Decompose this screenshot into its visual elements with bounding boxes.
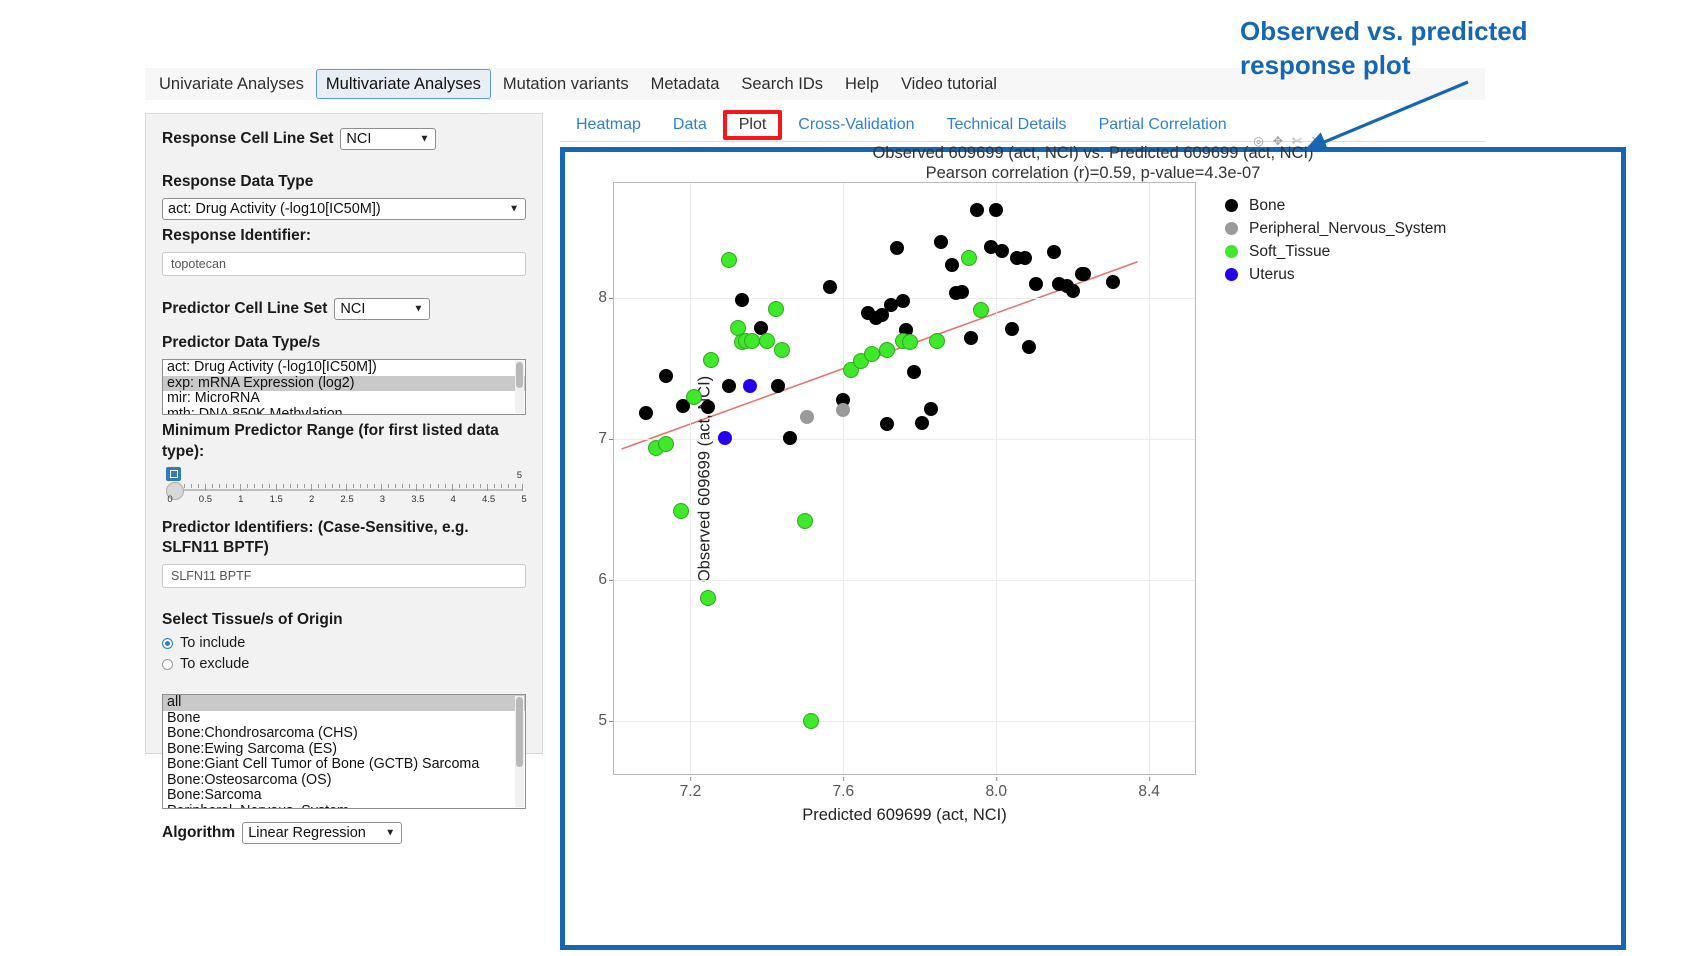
x-axis-tick-label: 8.0 — [985, 783, 1007, 801]
slider-tick — [494, 484, 495, 488]
slider-tick — [311, 484, 312, 491]
scatter-point-soft_tissue — [973, 302, 989, 318]
list-item[interactable]: Bone:Chondrosarcoma (CHS) — [163, 726, 525, 742]
legend-label: Bone — [1249, 197, 1285, 215]
plot-callout-box: ◎ ✥ ✄ ⇲ Observed 609699 (act, NCI) vs. P… — [560, 147, 1626, 950]
slider-tick — [430, 484, 431, 488]
list-item[interactable]: mth: DNA 850K Methylation — [163, 407, 525, 416]
slider-tick — [198, 484, 199, 488]
slider-tick — [240, 484, 241, 491]
gridline — [996, 183, 997, 774]
slider-tick — [381, 484, 382, 491]
response-data-type-select-wrap[interactable]: act: Drug Activity (-log10[IC50M]) ▼ — [162, 198, 526, 220]
slider-tick — [226, 484, 227, 488]
slider-tick-labels: 00.511.522.533.544.55 — [162, 494, 526, 506]
response-cell-line-set-label: Response Cell Line Set — [162, 129, 333, 149]
result-tab-data[interactable]: Data — [657, 112, 723, 138]
y-axis-tick-label: 7 — [598, 430, 607, 448]
scatter-point-soft_tissue — [744, 333, 760, 349]
scatter-point-soft_tissue — [686, 389, 702, 405]
scatter-point-bone — [735, 293, 749, 307]
scatter-point-soft_tissue — [879, 342, 895, 358]
spacer — [162, 505, 526, 518]
list-item[interactable]: Peripheral_Nervous_System — [163, 804, 525, 810]
slider-tick — [283, 484, 284, 488]
scatter-point-bone — [924, 402, 938, 416]
list-item[interactable]: exp: mRNA Expression (log2) — [163, 376, 525, 392]
spacer — [162, 276, 526, 298]
list-item[interactable]: Bone:Osteosarcoma (OS) — [163, 773, 525, 789]
slider-tick — [269, 484, 270, 488]
result-tab-plot[interactable]: Plot — [723, 110, 783, 140]
scatter-point-bone — [701, 400, 715, 414]
gridline — [614, 439, 1195, 440]
result-tab-heatmap[interactable]: Heatmap — [560, 112, 657, 138]
listbox-scrollbar[interactable] — [515, 696, 524, 807]
legend-color-swatch — [1225, 268, 1238, 281]
nav-tab-search-ids[interactable]: Search IDs — [731, 69, 833, 100]
legend-label: Soft_Tissue — [1249, 243, 1330, 261]
gridline — [1149, 183, 1150, 774]
slider-tick — [515, 484, 516, 488]
y-axis-tick-label: 6 — [598, 571, 607, 589]
scatter-point-soft_tissue — [803, 713, 819, 729]
scatter-point-bone — [1106, 275, 1120, 289]
legend-item-peripheral_nervous_system[interactable]: Peripheral_Nervous_System — [1225, 217, 1446, 240]
slider-tick — [374, 484, 375, 488]
slider-tick — [459, 484, 460, 488]
radio-icon-include[interactable] — [162, 638, 173, 649]
legend-item-soft_tissue[interactable]: Soft_Tissue — [1225, 240, 1446, 263]
nav-tab-video-tutorial[interactable]: Video tutorial — [891, 69, 1007, 100]
scatter-point-bone — [783, 431, 797, 445]
scatter-point-bone — [964, 331, 978, 345]
slider-tick-label: 2.5 — [340, 494, 353, 505]
gridline — [614, 580, 1195, 581]
scatter-point-bone — [955, 285, 969, 299]
list-item[interactable]: act: Drug Activity (-log10[IC50M]) — [163, 360, 525, 376]
scatter-point-soft_tissue — [759, 333, 775, 349]
x-axis-tick-label: 8.4 — [1138, 783, 1160, 801]
slider-max-label: 5 — [517, 470, 522, 481]
slider-tick — [254, 484, 255, 488]
min-predictor-range-label: Minimum Predictor Range (for first liste… — [162, 421, 526, 461]
annotation-arrow-icon — [1290, 78, 1480, 160]
analysis-parameters-panel: Response Cell Line Set NCI ▼ Response Da… — [145, 113, 543, 754]
slider-tick — [339, 484, 340, 488]
predictor-cell-line-set-select-wrap[interactable]: NCI ▼ — [334, 298, 430, 320]
scatter-point-uterus — [743, 379, 757, 393]
scatter-point-soft_tissue — [721, 252, 737, 268]
list-item[interactable]: Bone:Ewing Sarcoma (ES) — [163, 742, 525, 758]
slider-tick-label: 0 — [167, 494, 172, 505]
scatter-point-soft_tissue — [797, 513, 813, 529]
predictor-data-types-label: Predictor Data Type/s — [162, 333, 526, 353]
predictor-data-types-listbox[interactable]: act: Drug Activity (-log10[IC50M])exp: m… — [162, 359, 526, 415]
nav-tab-univariate-analyses[interactable]: Univariate Analyses — [149, 69, 314, 100]
scatter-point-soft_tissue — [658, 436, 674, 452]
tissue-origin-listbox[interactable]: allBoneBone:Chondrosarcoma (CHS)Bone:Ewi… — [162, 694, 526, 809]
slider-tick-label: 1 — [238, 494, 243, 505]
slider-tick — [438, 484, 439, 488]
legend-color-swatch — [1225, 199, 1238, 212]
scatter-point-soft_tissue — [703, 352, 719, 368]
slider-tick — [219, 484, 220, 488]
slider-tick-label: 4 — [451, 494, 456, 505]
spacer — [162, 588, 526, 610]
slider-tick — [445, 484, 446, 488]
scatter-point-bone — [934, 235, 948, 249]
tissue-radio-exclude-label: To exclude — [180, 656, 249, 672]
plot-axes: Observed 609699 (act, NCI) Predicted 609… — [613, 182, 1196, 775]
slider-value-bubble — [166, 467, 181, 481]
x-axis-tick-label: 7.6 — [833, 783, 855, 801]
slider-tick — [212, 484, 213, 488]
scatter-point-bone — [771, 379, 785, 393]
slider-tick — [325, 484, 326, 488]
nav-tab-help[interactable]: Help — [835, 69, 889, 100]
spacer — [162, 672, 526, 694]
response-cell-line-set-row: Response Cell Line Set NCI ▼ — [162, 128, 526, 150]
legend-label: Uterus — [1249, 266, 1295, 284]
slider-tick-label: 0.5 — [199, 494, 212, 505]
nav-tab-metadata[interactable]: Metadata — [641, 69, 730, 100]
slider-tick-label: 5 — [521, 494, 526, 505]
slider-tick — [233, 484, 234, 488]
slider-tick — [290, 484, 291, 488]
scatter-point-soft_tissue — [929, 333, 945, 349]
slider-tick-label: 3 — [380, 494, 385, 505]
slider-tick — [473, 484, 474, 488]
x-axis-tick-label: 7.2 — [680, 783, 702, 801]
scatter-point-bone — [907, 365, 921, 379]
result-tab-technical-details[interactable]: Technical Details — [931, 112, 1083, 138]
slider-tick — [191, 484, 192, 488]
plot-subtitle: Pearson correlation (r)=0.59, p-value=4.… — [565, 164, 1621, 183]
radio-icon-exclude[interactable] — [162, 659, 173, 670]
list-item[interactable]: mir: MicroRNA — [163, 391, 525, 407]
slider-tick — [367, 484, 368, 488]
response-data-type-label: Response Data Type — [162, 172, 526, 192]
response-cell-line-set-select[interactable]: NCI — [340, 128, 436, 150]
y-axis-tick-label: 8 — [598, 289, 607, 307]
slider-tick — [409, 484, 410, 488]
slider-tick — [297, 484, 298, 488]
scatter-point-bone — [1066, 284, 1080, 298]
scatter-point-bone — [1005, 322, 1019, 336]
slider-tick-label: 1.5 — [270, 494, 283, 505]
list-item[interactable]: Bone:Sarcoma — [163, 788, 525, 804]
predictor-identifiers-input[interactable] — [162, 564, 526, 588]
scatter-point-soft_tissue — [768, 301, 784, 317]
tissue-radio-to-include[interactable]: To include — [162, 635, 526, 651]
scatter-point-bone — [823, 280, 837, 294]
slider-tick — [184, 484, 185, 488]
response-cell-line-set-select-wrap[interactable]: NCI ▼ — [340, 128, 436, 150]
scatter-point-bone — [880, 417, 894, 431]
slider-tick — [332, 484, 333, 488]
predictor-cell-line-set-row: Predictor Cell Line Set NCI ▼ — [162, 298, 526, 320]
tissue-select-label: Select Tissue/s of Origin — [162, 610, 526, 630]
slider-ticks — [170, 484, 522, 494]
slider-tick — [395, 484, 396, 488]
legend-color-swatch — [1225, 245, 1238, 258]
slider-tick — [508, 484, 509, 488]
response-data-type-select[interactable]: act: Drug Activity (-log10[IC50M]) — [162, 198, 526, 220]
tissue-radio-include-label: To include — [180, 635, 245, 651]
slider-tick — [466, 484, 467, 488]
plot-legend: BonePeripheral_Nervous_SystemSoft_Tissue… — [1225, 194, 1446, 286]
legend-item-bone[interactable]: Bone — [1225, 194, 1446, 217]
scatter-point-bone — [989, 203, 1003, 217]
scatter-point-soft_tissue — [961, 250, 977, 266]
slider-tick — [304, 484, 305, 488]
result-tab-partial-correlation[interactable]: Partial Correlation — [1083, 112, 1243, 138]
legend-label: Peripheral_Nervous_System — [1249, 220, 1446, 238]
scatter-point-bone — [970, 203, 984, 217]
slider-tick — [205, 484, 206, 491]
scatter-point-bone — [995, 244, 1009, 258]
scatter-point-peripheral_nervous_system — [836, 403, 850, 417]
slider-tick — [318, 484, 319, 488]
scatter-point-bone — [896, 294, 910, 308]
scatter-point-bone — [945, 258, 959, 272]
predictor-identifiers-label: Predictor Identifiers: (Case-Sensitive, … — [162, 518, 526, 558]
predictor-cell-line-set-select[interactable]: NCI — [334, 298, 430, 320]
slider-tick — [346, 484, 347, 491]
scatter-point-bone — [1022, 340, 1036, 354]
algorithm-select-wrap[interactable]: Linear Regression ▼ — [242, 822, 402, 844]
slider-tick — [360, 484, 361, 488]
scatter-point-bone — [915, 416, 929, 430]
scatter-point-soft_tissue — [673, 503, 689, 519]
slider-tick — [522, 484, 523, 491]
gridline — [843, 183, 844, 774]
annotation-text: Observed vs. predicted response plot — [1240, 14, 1570, 83]
scatter-point-bone — [890, 241, 904, 255]
spacer — [162, 320, 526, 333]
slider-tick — [423, 484, 424, 488]
list-item[interactable]: Bone — [163, 711, 525, 727]
scatter-point-soft_tissue — [700, 590, 716, 606]
spacer — [162, 150, 526, 172]
slider-tick — [480, 484, 481, 488]
slider-tick-label: 3.5 — [411, 494, 424, 505]
gridline — [690, 183, 691, 774]
scatter-point-bone — [722, 379, 736, 393]
tissue-radio-to-exclude[interactable]: To exclude — [162, 656, 526, 672]
list-item[interactable]: Bone:Giant Cell Tumor of Bone (GCTB) Sar… — [163, 757, 525, 773]
slider-tick-label: 4.5 — [482, 494, 495, 505]
slider-tick — [388, 484, 389, 488]
scatter-point-bone — [1018, 251, 1032, 265]
slider-tick — [353, 484, 354, 488]
slider-tick — [487, 484, 488, 491]
result-tab-cross-validation[interactable]: Cross-Validation — [782, 112, 930, 138]
scatter-point-soft_tissue — [774, 342, 790, 358]
algorithm-row: Algorithm Linear Regression ▼ — [162, 822, 526, 844]
scatter-point-soft_tissue — [864, 346, 880, 362]
algorithm-select[interactable]: Linear Regression — [242, 822, 402, 844]
slider-tick — [501, 484, 502, 488]
scatter-point-bone — [659, 369, 673, 383]
predictor-cell-line-set-label: Predictor Cell Line Set — [162, 299, 327, 319]
observed-vs-predicted-scatter-plot: ◎ ✥ ✄ ⇲ Observed 609699 (act, NCI) vs. P… — [565, 152, 1621, 945]
scatter-point-bone — [1047, 245, 1061, 259]
nav-tab-mutation-variants[interactable]: Mutation variants — [493, 69, 639, 100]
slider-tick — [262, 484, 263, 488]
y-axis-tick-label: 5 — [598, 712, 607, 730]
spacer — [162, 809, 526, 822]
gridline — [614, 721, 1195, 722]
x-axis-label: Predicted 609699 (act, NCI) — [614, 806, 1195, 825]
list-item[interactable]: all — [163, 695, 525, 711]
slider-tick-label: 2 — [309, 494, 314, 505]
scatter-point-bone — [639, 406, 653, 420]
slider-tick — [452, 484, 453, 491]
algorithm-label: Algorithm — [162, 823, 235, 843]
response-identifier-input[interactable] — [162, 252, 526, 276]
scatter-point-bone — [1029, 277, 1043, 291]
listbox-scrollbar[interactable] — [515, 361, 524, 413]
response-identifier-label: Response Identifier: — [162, 226, 526, 246]
slider-tick — [276, 484, 277, 491]
scatter-point-bone — [1077, 267, 1091, 281]
min-predictor-range-slider[interactable]: 5 00.511.522.533.544.55 — [162, 467, 526, 505]
scatter-point-uterus — [718, 431, 732, 445]
legend-color-swatch — [1225, 222, 1238, 235]
scatter-point-peripheral_nervous_system — [800, 410, 814, 424]
nav-tab-multivariate-analyses[interactable]: Multivariate Analyses — [316, 69, 491, 100]
slider-tick — [416, 484, 417, 491]
legend-item-uterus[interactable]: Uterus — [1225, 263, 1446, 286]
slider-tick — [247, 484, 248, 488]
slider-tick — [402, 484, 403, 488]
scatter-point-soft_tissue — [902, 334, 918, 350]
